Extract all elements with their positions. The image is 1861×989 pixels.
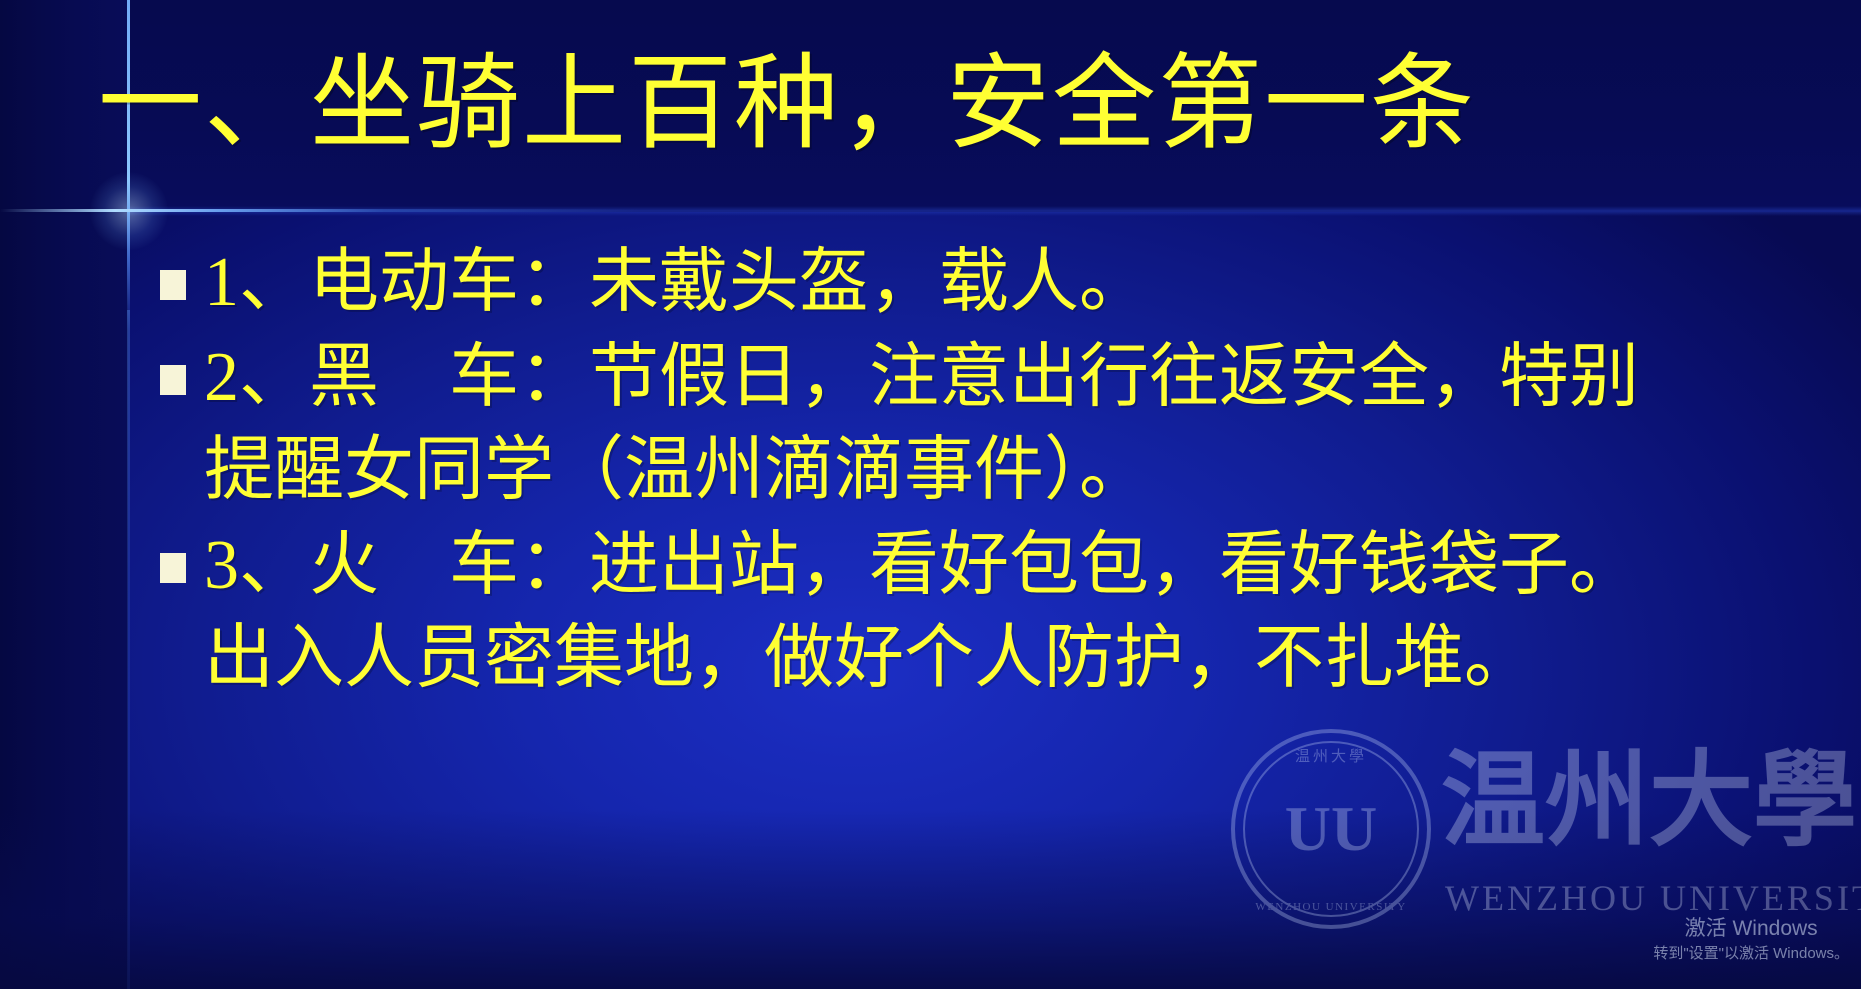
presentation-slide: 一、坐骑上百种，安全第一条 1、电动车：未戴头盔，载人。 2、黑 车：节假日，注…	[0, 0, 1861, 989]
horizontal-rule-decoration	[0, 209, 640, 212]
square-bullet-icon	[160, 553, 186, 583]
square-bullet-icon	[160, 270, 186, 300]
vertical-rule-decoration-lower	[127, 310, 130, 989]
square-bullet-icon	[160, 365, 186, 395]
list-item: 1、电动车：未戴头盔，载人。	[160, 236, 1680, 329]
list-item-text: 1、电动车：未戴头盔，载人。	[204, 236, 1680, 329]
slide-body-list: 1、电动车：未戴头盔，载人。 2、黑 车：节假日，注意出行往返安全，特别提醒女同…	[160, 236, 1680, 707]
slide-title: 一、坐骑上百种，安全第一条	[98, 30, 1838, 180]
list-item: 2、黑 车：节假日，注意出行往返安全，特别提醒女同学（温州滴滴事件）。	[160, 331, 1680, 517]
slide-bottom-shade	[0, 809, 1861, 989]
list-item: 3、火 车：进出站，看好包包，看好钱袋子。出入人员密集地，做好个人防护，不扎堆。	[160, 519, 1680, 705]
list-item-text: 2、黑 车：节假日，注意出行往返安全，特别提醒女同学（温州滴滴事件）。	[204, 331, 1680, 517]
list-item-text: 3、火 车：进出站，看好包包，看好钱袋子。出入人员密集地，做好个人防护，不扎堆。	[204, 519, 1680, 705]
